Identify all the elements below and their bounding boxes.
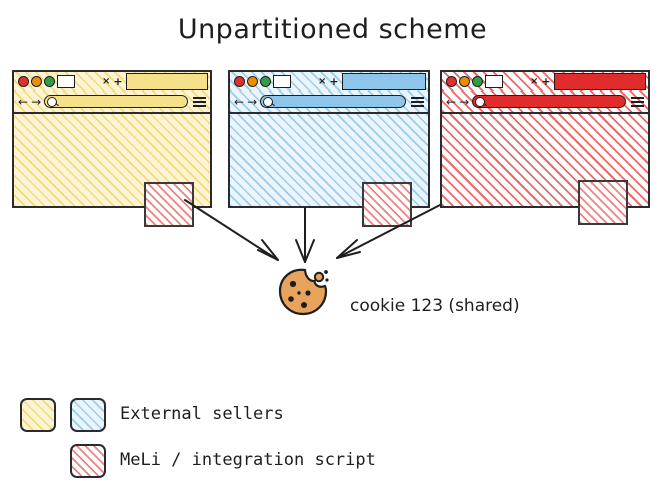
browser-viewport: [230, 112, 428, 206]
cookie-icon: [275, 264, 333, 318]
browser-tab[interactable]: [342, 73, 426, 90]
new-tab-icon[interactable]: +: [328, 76, 339, 87]
forward-arrow-icon[interactable]: →: [247, 96, 257, 108]
magnifier-icon: [263, 97, 273, 107]
page-title: Unpartitioned scheme: [0, 14, 665, 45]
maximize-dot-icon[interactable]: [44, 76, 55, 87]
address-bar[interactable]: [44, 95, 188, 108]
address-bar[interactable]: [472, 95, 626, 108]
integration-iframe: [578, 180, 628, 225]
legend-label-meli-integration-script: MeLi / integration script: [120, 450, 376, 470]
magnifier-icon: [475, 97, 485, 107]
legend-swatch-red: [70, 444, 106, 478]
window-controls-tail: [57, 75, 75, 88]
browser-tab[interactable]: [126, 73, 208, 90]
browser-viewport: [14, 112, 210, 206]
diagram-canvas: Unpartitioned scheme × + ← →: [0, 0, 665, 498]
hamburger-menu-icon[interactable]: [411, 97, 424, 107]
legend-label-external-sellers: External sellers: [120, 404, 284, 424]
tab-close-icon[interactable]: ×: [316, 77, 328, 87]
cookie-label: cookie 123 (shared): [350, 296, 520, 316]
forward-arrow-icon[interactable]: →: [459, 96, 469, 108]
integration-iframe: [362, 182, 412, 227]
new-tab-icon[interactable]: +: [540, 76, 551, 87]
tab-close-icon[interactable]: ×: [100, 77, 112, 87]
legend-swatch-blue: [70, 398, 106, 432]
browser-toolbar: ← →: [442, 91, 648, 112]
tabstrip: × +: [442, 72, 648, 91]
maximize-dot-icon[interactable]: [260, 76, 271, 87]
minimize-dot-icon[interactable]: [31, 76, 42, 87]
magnifier-icon: [47, 97, 57, 107]
browser-tab[interactable]: [554, 73, 646, 90]
address-bar[interactable]: [260, 95, 406, 108]
browser-window-red[interactable]: × + ← →: [440, 70, 650, 208]
traffic-lights: [232, 75, 294, 88]
back-arrow-icon[interactable]: ←: [18, 96, 28, 108]
browser-toolbar: ← →: [230, 91, 428, 112]
traffic-lights: [16, 75, 78, 88]
arrow-from-blue-window: [296, 208, 314, 262]
back-arrow-icon[interactable]: ←: [234, 96, 244, 108]
new-tab-icon[interactable]: +: [112, 76, 123, 87]
minimize-dot-icon[interactable]: [459, 76, 470, 87]
integration-iframe: [144, 182, 194, 227]
browser-window-blue[interactable]: × + ← →: [228, 70, 430, 208]
close-dot-icon[interactable]: [234, 76, 245, 87]
tabstrip: × +: [14, 72, 210, 91]
forward-arrow-icon[interactable]: →: [31, 96, 41, 108]
tabstrip: × +: [230, 72, 428, 91]
close-dot-icon[interactable]: [446, 76, 457, 87]
legend-swatch-yellow: [20, 398, 56, 432]
minimize-dot-icon[interactable]: [247, 76, 258, 87]
browser-window-yellow[interactable]: × + ← →: [12, 70, 212, 208]
tab-close-icon[interactable]: ×: [528, 77, 540, 87]
browser-viewport: [442, 112, 648, 206]
maximize-dot-icon[interactable]: [472, 76, 483, 87]
hamburger-menu-icon[interactable]: [193, 97, 206, 107]
hamburger-menu-icon[interactable]: [631, 97, 644, 107]
window-controls-tail: [485, 75, 503, 88]
back-arrow-icon[interactable]: ←: [446, 96, 456, 108]
traffic-lights: [444, 75, 506, 88]
close-dot-icon[interactable]: [18, 76, 29, 87]
arrow-from-yellow-window: [185, 200, 278, 260]
window-controls-tail: [273, 75, 291, 88]
browser-toolbar: ← →: [14, 91, 210, 112]
